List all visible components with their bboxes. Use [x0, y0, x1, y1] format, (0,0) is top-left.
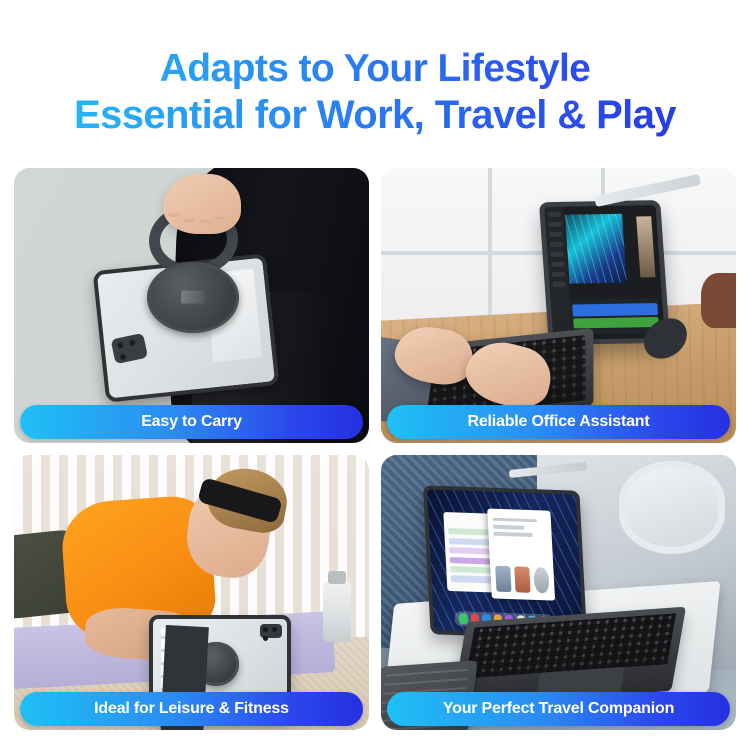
chair-in-background	[701, 273, 737, 328]
timeline-track-video	[572, 303, 658, 316]
card-caption-bar: Easy to Carry	[20, 405, 363, 439]
tablet-screen-video-editor	[545, 205, 665, 340]
feature-card-travel-companion[interactable]: Your Perfect Travel Companion	[381, 455, 736, 730]
card-caption-bar: Ideal for Leisure & Fitness	[20, 692, 363, 726]
product-feature-banner: Adapts to Your Lifestyle Essential for W…	[0, 0, 750, 750]
scene-home-workout	[14, 455, 369, 730]
airplane-window	[619, 461, 726, 555]
scene-office-desk	[381, 168, 736, 443]
card-caption-bar: Your Perfect Travel Companion	[387, 692, 730, 726]
caption-label: Easy to Carry	[141, 413, 242, 431]
camera-module-icon	[111, 333, 149, 364]
rotating-stand-disc	[147, 262, 239, 334]
water-bottle	[323, 582, 351, 643]
headline-line-2: Essential for Work, Travel & Play	[0, 92, 750, 139]
video-preview-pane	[565, 214, 627, 284]
scene-hand-carrying-tablet	[14, 168, 369, 443]
headline-line-1: Adapts to Your Lifestyle	[0, 46, 750, 92]
caption-label: Your Perfect Travel Companion	[443, 700, 674, 718]
caption-label: Reliable Office Assistant	[467, 413, 649, 431]
timeline-track-audio	[573, 317, 659, 329]
feature-card-easy-to-carry[interactable]: Easy to Carry	[14, 168, 369, 443]
scene-airplane-tray	[381, 455, 736, 730]
card-caption-bar: Reliable Office Assistant	[387, 405, 730, 439]
tablet-on-stand	[539, 200, 670, 345]
caption-label: Ideal for Leisure & Fitness	[94, 700, 289, 718]
document-window	[488, 508, 555, 600]
feature-card-grid: Easy to Carry	[14, 168, 736, 738]
clip-thumbnail	[636, 216, 656, 277]
feature-card-leisure-fitness[interactable]: Ideal for Leisure & Fitness	[14, 455, 369, 730]
feature-card-office-assistant[interactable]: Reliable Office Assistant	[381, 168, 736, 443]
camera-module-icon	[260, 624, 281, 638]
headline-block: Adapts to Your Lifestyle Essential for W…	[0, 0, 750, 138]
hand-gripping-ring	[163, 174, 241, 235]
